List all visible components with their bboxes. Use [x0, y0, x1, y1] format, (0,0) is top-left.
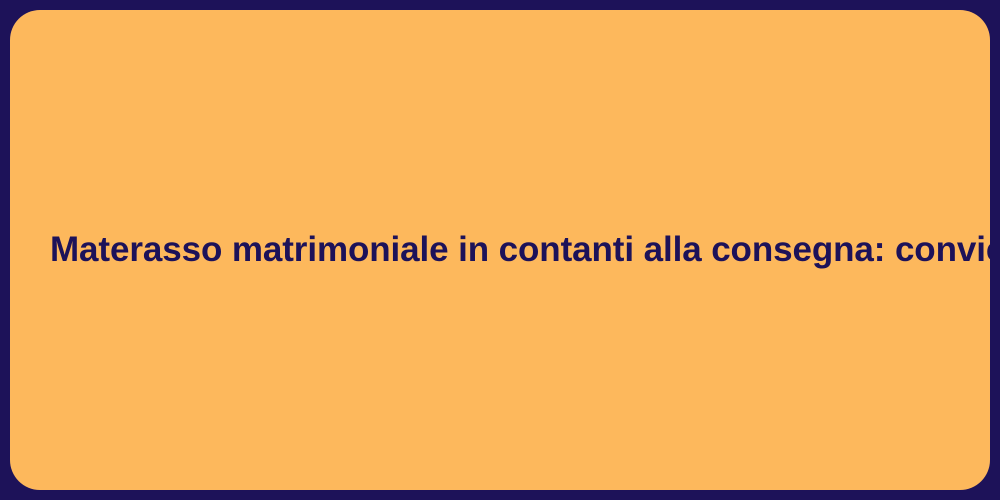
card-frame: Materasso matrimoniale in contanti alla … — [0, 0, 1000, 500]
page-title: Materasso matrimoniale in contanti alla … — [10, 228, 990, 272]
card-surface: Materasso matrimoniale in contanti alla … — [10, 10, 990, 490]
